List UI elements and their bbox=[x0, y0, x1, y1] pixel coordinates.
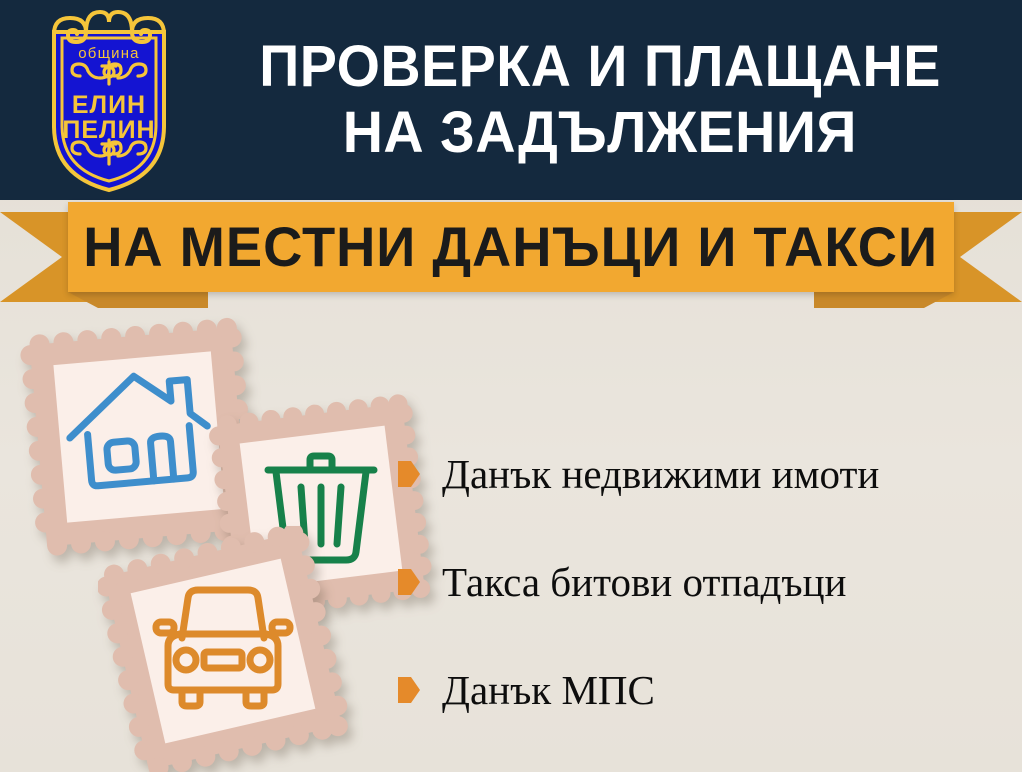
ribbon-fold-left bbox=[68, 292, 208, 308]
crest-line-bottom: ПЕЛИН bbox=[62, 116, 155, 144]
header-title-block: ПРОВЕРКА И ПЛАЩАНЕ НА ЗАДЪЛЖЕНИЯ bbox=[190, 20, 1010, 180]
page-title-line-1: ПРОВЕРКА И ПЛАЩАНЕ bbox=[259, 34, 941, 100]
page-title-line-2: НА ЗАДЪЛЖЕНИЯ bbox=[343, 100, 857, 166]
bullet-arrow-icon bbox=[398, 461, 420, 487]
ribbon-label: НА МЕСТНИ ДАНЪЦИ И ТАКСИ bbox=[84, 219, 939, 275]
list-item[interactable]: Данък МПС bbox=[398, 636, 1018, 744]
tax-type-list: Данък недвижими имоти Такса битови отпад… bbox=[398, 420, 1018, 744]
crest-line-top: община bbox=[78, 45, 139, 62]
crest-logo: община ЕЛИН ПЕЛИН bbox=[34, 8, 184, 194]
ribbon-fold-right bbox=[814, 292, 954, 308]
bullet-arrow-icon bbox=[398, 677, 420, 703]
header-banner: община ЕЛИН ПЕЛИН ПРОВЕРКА И ПЛАЩАНЕ НА … bbox=[0, 0, 1022, 200]
list-item-label: Данък МПС bbox=[442, 668, 655, 712]
list-item-label: Данък недвижими имоти bbox=[442, 452, 879, 496]
bullet-arrow-icon bbox=[398, 569, 420, 595]
subtitle-ribbon: НА МЕСТНИ ДАНЪЦИ И ТАКСИ bbox=[0, 196, 1022, 316]
stamp-vehicle-tax bbox=[98, 526, 348, 772]
crest-line-mid: ЕЛИН bbox=[72, 91, 146, 119]
list-item[interactable]: Такса битови отпадъци bbox=[398, 528, 1018, 636]
list-item-label: Такса битови отпадъци bbox=[442, 560, 846, 604]
list-item[interactable]: Данък недвижими имоти bbox=[398, 420, 1018, 528]
ribbon-panel: НА МЕСТНИ ДАНЪЦИ И ТАКСИ bbox=[68, 202, 954, 292]
